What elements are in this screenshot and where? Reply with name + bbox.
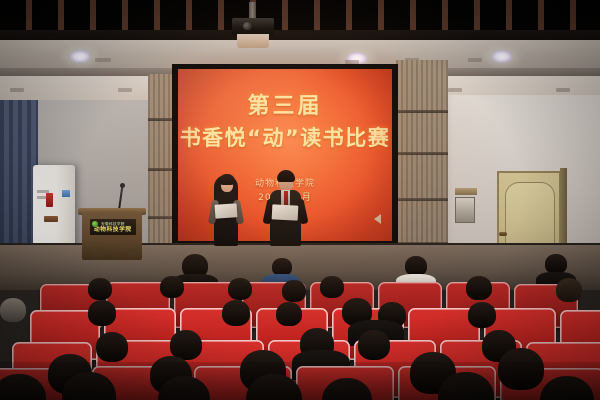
wood-panel-band — [148, 118, 174, 121]
audience-head — [88, 278, 112, 300]
ac-badge-icon — [46, 193, 53, 207]
wood-panel-band — [396, 110, 448, 113]
wood-panel-band — [396, 198, 448, 201]
male-host-hair — [277, 170, 295, 182]
ceiling-projector — [232, 18, 274, 35]
wood-panel-band — [396, 152, 448, 155]
microphone-head-icon — [120, 183, 125, 188]
ceiling-vent — [468, 58, 482, 62]
university-logo-icon — [92, 221, 98, 227]
audience-head — [466, 276, 492, 300]
notice-board — [455, 197, 475, 223]
wood-slat-panel-right — [396, 60, 448, 260]
wood-slat-panel-left — [148, 74, 174, 254]
audience-head — [498, 348, 544, 390]
female-host-hair-front — [219, 174, 235, 185]
door-handle-icon[interactable] — [499, 232, 507, 236]
lectern-org-small: 安徽科技学院 — [101, 222, 125, 226]
audience-head — [276, 302, 302, 326]
audience-head — [358, 330, 390, 360]
audience-head — [320, 276, 344, 298]
spotlight-left — [69, 50, 91, 63]
ceiling-vent — [95, 58, 111, 62]
audience-head — [88, 300, 116, 326]
projector-base — [237, 34, 269, 48]
auditorium-photo: 第三届 书香悦“动”读书比赛 动物科技学院 2017年5月 安徽科技学院 动物科… — [0, 0, 600, 400]
male-host-tie — [284, 191, 288, 206]
audience-head — [468, 302, 496, 328]
ceiling-vent — [556, 88, 570, 92]
ceiling-vent — [448, 88, 462, 92]
lectern-org-large: 动物科技学院 — [94, 227, 132, 233]
audience-head — [228, 278, 252, 300]
audience-head — [405, 256, 427, 276]
wall-small-plate — [455, 188, 477, 195]
audience-head — [160, 276, 184, 298]
audience-seating — [0, 250, 600, 400]
ceiling-vent — [118, 88, 132, 92]
wood-panel-band — [148, 168, 174, 171]
audience-head — [222, 300, 250, 326]
ceiling-vent — [10, 88, 24, 92]
male-host-script — [272, 204, 299, 220]
ac-display-panel[interactable] — [62, 190, 70, 197]
audience-head — [282, 280, 306, 302]
audience-head — [556, 278, 582, 302]
wood-panel-band — [148, 216, 174, 219]
audience-head — [0, 298, 26, 322]
audience-head — [545, 254, 567, 274]
spotlight-right — [491, 50, 513, 63]
female-host-script — [215, 203, 238, 219]
projector-lens-icon — [243, 22, 252, 30]
audience-head — [96, 332, 128, 362]
ac-vent-strip — [44, 216, 58, 222]
